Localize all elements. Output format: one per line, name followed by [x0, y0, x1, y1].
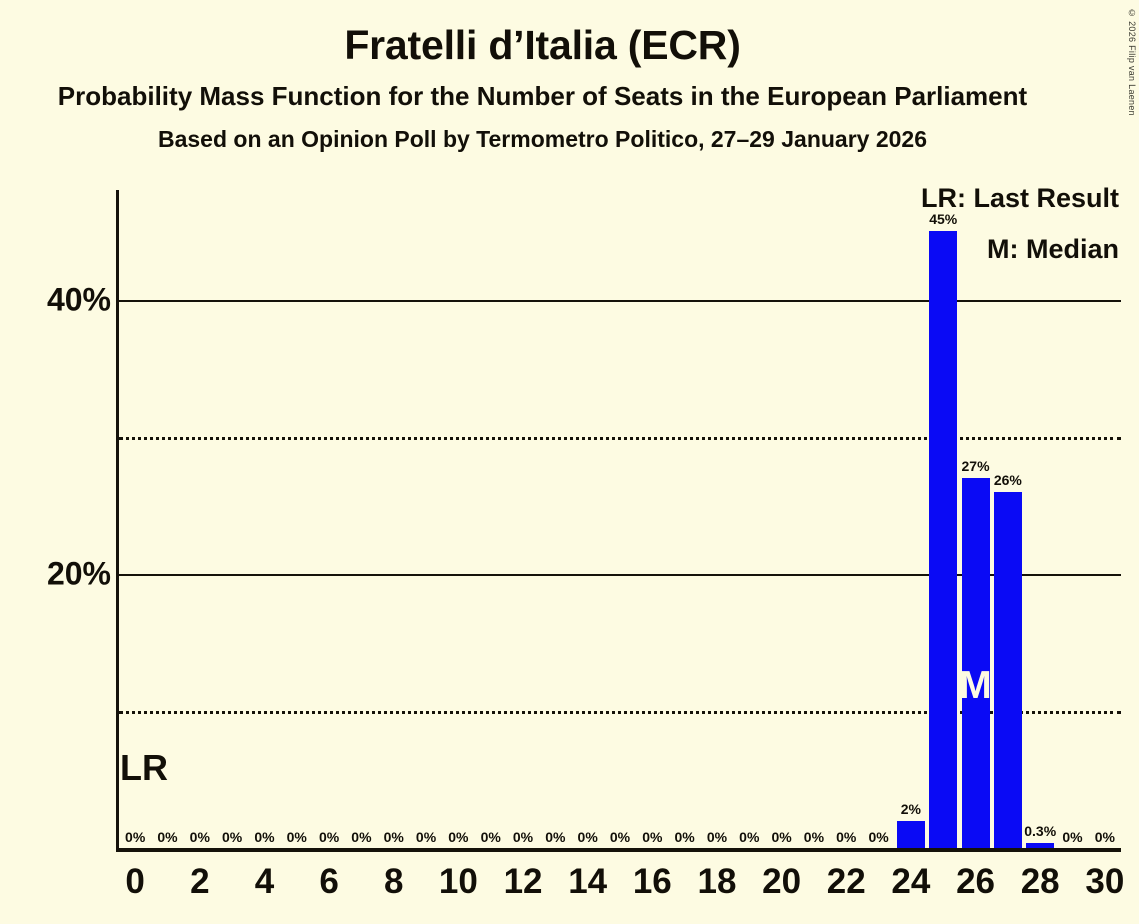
bar-value-label-seat-21: 0% — [804, 830, 824, 844]
x-axis-tick-20: 20 — [762, 862, 801, 902]
bar-slot-seat-3[interactable]: 0% — [216, 190, 248, 848]
chart-header: Fratelli d’Italia (ECR) Probability Mass… — [0, 0, 1085, 151]
bar-value-label-seat-23: 0% — [868, 830, 888, 844]
bar-slot-seat-8[interactable]: 0% — [378, 190, 410, 848]
chart-title: Fratelli d’Italia (ECR) — [0, 24, 1085, 67]
bar-seat-28[interactable] — [1026, 843, 1054, 848]
bar-value-label-seat-16: 0% — [642, 830, 662, 844]
bar-slot-seat-11[interactable]: 0% — [475, 190, 507, 848]
x-axis-tick-12: 12 — [504, 862, 543, 902]
x-axis-tick-18: 18 — [697, 862, 736, 902]
bar-value-label-seat-22: 0% — [836, 830, 856, 844]
bar-value-label-seat-6: 0% — [319, 830, 339, 844]
bar-value-label-seat-19: 0% — [739, 830, 759, 844]
bar-slot-seat-16[interactable]: 0% — [636, 190, 668, 848]
bar-value-label-seat-4: 0% — [254, 830, 274, 844]
bar-value-label-seat-27: 26% — [994, 473, 1022, 487]
bar-seat-27[interactable] — [994, 492, 1022, 848]
bar-value-label-seat-20: 0% — [771, 830, 791, 844]
bar-value-label-seat-0: 0% — [125, 830, 145, 844]
bar-slot-seat-17[interactable]: 0% — [668, 190, 700, 848]
x-axis-tick-8: 8 — [384, 862, 403, 902]
bar-slot-seat-19[interactable]: 0% — [733, 190, 765, 848]
x-axis-tick-4: 4 — [255, 862, 274, 902]
median-marker: M — [959, 666, 992, 705]
bar-value-label-seat-1: 0% — [157, 830, 177, 844]
bar-slot-seat-4[interactable]: 0% — [248, 190, 280, 848]
x-axis-tick-30: 30 — [1085, 862, 1124, 902]
bar-value-label-seat-2: 0% — [190, 830, 210, 844]
bar-value-label-seat-14: 0% — [578, 830, 598, 844]
bar-value-label-seat-12: 0% — [513, 830, 533, 844]
bar-value-label-seat-18: 0% — [707, 830, 727, 844]
bar-value-label-seat-24: 2% — [901, 802, 921, 816]
bar-value-label-seat-11: 0% — [481, 830, 501, 844]
bar-value-label-seat-28: 0.3% — [1024, 824, 1056, 838]
bar-slot-seat-26[interactable]: 27%M — [959, 190, 991, 848]
bar-slot-seat-20[interactable]: 0% — [765, 190, 797, 848]
bar-slot-seat-9[interactable]: 0% — [410, 190, 442, 848]
bar-slot-seat-13[interactable]: 0% — [539, 190, 571, 848]
bar-slot-seat-15[interactable]: 0% — [604, 190, 636, 848]
last-result-marker: LR — [120, 750, 168, 786]
bar-value-label-seat-15: 0% — [610, 830, 630, 844]
bar-value-label-seat-8: 0% — [384, 830, 404, 844]
x-axis-tick-26: 26 — [956, 862, 995, 902]
bar-slot-seat-10[interactable]: 0% — [442, 190, 474, 848]
bar-value-label-seat-17: 0% — [675, 830, 695, 844]
bar-value-label-seat-7: 0% — [351, 830, 371, 844]
bar-slot-seat-14[interactable]: 0% — [572, 190, 604, 848]
chart-source-line: Based on an Opinion Poll by Termometro P… — [0, 127, 1085, 151]
bar-series: 0%0%0%0%0%0%0%0%0%0%0%0%0%0%0%0%0%0%0%0%… — [119, 190, 1121, 848]
x-axis-tick-24: 24 — [891, 862, 930, 902]
x-axis-tick-28: 28 — [1021, 862, 1060, 902]
plot-area: 40%20% 0%0%0%0%0%0%0%0%0%0%0%0%0%0%0%0%0… — [119, 190, 1121, 848]
x-axis-tick-16: 16 — [633, 862, 672, 902]
bar-slot-seat-21[interactable]: 0% — [798, 190, 830, 848]
x-axis-tick-0: 0 — [125, 862, 144, 902]
bar-slot-seat-22[interactable]: 0% — [830, 190, 862, 848]
bar-value-label-seat-29: 0% — [1062, 830, 1082, 844]
bar-seat-25[interactable] — [929, 231, 957, 848]
bar-value-label-seat-3: 0% — [222, 830, 242, 844]
bar-slot-seat-7[interactable]: 0% — [345, 190, 377, 848]
copyright-notice: © 2026 Filip van Laenen — [1127, 8, 1137, 116]
bar-value-label-seat-10: 0% — [448, 830, 468, 844]
bar-value-label-seat-9: 0% — [416, 830, 436, 844]
bar-slot-seat-5[interactable]: 0% — [281, 190, 313, 848]
bar-slot-seat-29[interactable]: 0% — [1056, 190, 1088, 848]
bar-slot-seat-12[interactable]: 0% — [507, 190, 539, 848]
bar-slot-seat-2[interactable]: 0% — [184, 190, 216, 848]
bar-value-label-seat-26: 27% — [962, 459, 990, 473]
bar-value-label-seat-30: 0% — [1095, 830, 1115, 844]
x-axis-line — [116, 848, 1121, 852]
bar-slot-seat-24[interactable]: 2% — [895, 190, 927, 848]
bar-slot-seat-6[interactable]: 0% — [313, 190, 345, 848]
bar-slot-seat-27[interactable]: 26% — [992, 190, 1024, 848]
x-axis-tick-22: 22 — [827, 862, 866, 902]
y-axis-tick-20: 20% — [11, 555, 111, 592]
bar-slot-seat-28[interactable]: 0.3% — [1024, 190, 1056, 848]
bar-slot-seat-23[interactable]: 0% — [862, 190, 894, 848]
x-axis-labels: 024681012141618202224262830 — [119, 862, 1121, 922]
bar-value-label-seat-13: 0% — [545, 830, 565, 844]
bar-slot-seat-25[interactable]: 45% — [927, 190, 959, 848]
bar-value-label-seat-25: 45% — [929, 212, 957, 226]
bar-seat-24[interactable] — [897, 821, 925, 848]
bar-seat-26[interactable] — [962, 478, 990, 848]
chart-subtitle: Probability Mass Function for the Number… — [0, 83, 1085, 110]
bar-value-label-seat-5: 0% — [287, 830, 307, 844]
x-axis-tick-6: 6 — [319, 862, 338, 902]
bar-slot-seat-30[interactable]: 0% — [1089, 190, 1121, 848]
x-axis-tick-2: 2 — [190, 862, 209, 902]
bar-slot-seat-18[interactable]: 0% — [701, 190, 733, 848]
x-axis-tick-14: 14 — [568, 862, 607, 902]
x-axis-tick-10: 10 — [439, 862, 478, 902]
y-axis-tick-40: 40% — [11, 281, 111, 318]
